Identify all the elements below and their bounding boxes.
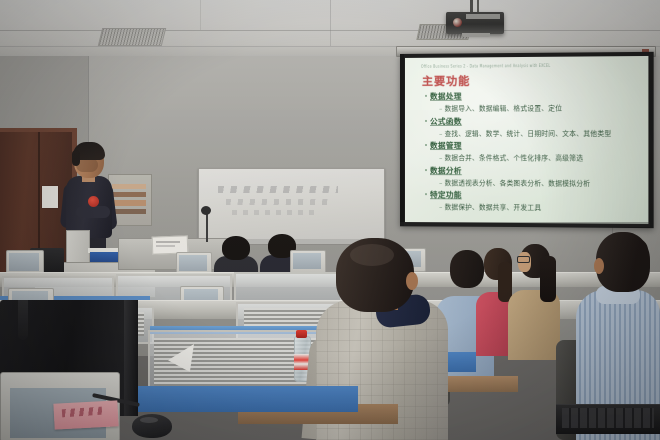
desk-partition — [234, 272, 342, 302]
slide-section-detail: –数据导入、数据编辑、格式设置、定位 — [439, 102, 644, 113]
bottle-cap — [296, 330, 307, 338]
printed-sheet-line — [156, 241, 180, 243]
slide-section-title: 特定功能 — [430, 189, 462, 200]
slide-section-detail-text: 数据导入、数据编辑、格式设置、定位 — [445, 104, 563, 112]
bullet-icon — [425, 193, 427, 195]
attendee-hair — [540, 256, 556, 302]
attendee-head — [222, 236, 250, 260]
whiteboard-writing — [226, 199, 330, 205]
screen-border — [400, 54, 404, 226]
attendee-ear — [594, 258, 604, 274]
lab-monitor-screen — [179, 255, 207, 271]
bullet-icon — [425, 95, 427, 97]
wall-art-stripe — [112, 209, 146, 214]
projector-base — [462, 33, 490, 37]
slide-section: 数据处理 –数据导入、数据编辑、格式设置、定位 — [425, 90, 644, 113]
presenter-folded-arms — [76, 206, 110, 218]
bullet-icon — [425, 119, 427, 121]
slide-section: 数据分析 –数据透视表分析、各类图表分析、数据模拟分析 — [425, 165, 644, 188]
slide-section-detail: –查找、逻辑、数学、统计、日期时间、文本、其他类型 — [439, 127, 644, 137]
slide-section-detail-text: 数据保护、数据共享、开发工具 — [445, 203, 542, 212]
presenter-hair — [72, 150, 80, 166]
attendee-ear — [406, 272, 418, 290]
bullet-icon — [425, 144, 427, 146]
slide-section-detail-text: 数据透视表分析、各类图表分析、数据模拟分析 — [445, 179, 591, 188]
lab-monitor-screen — [293, 253, 321, 269]
wall-art-stripe — [112, 192, 146, 197]
slide-section-detail: –数据合并、条件格式、个性化排序、高级筛选 — [439, 152, 644, 162]
mouse-highlight — [140, 417, 158, 423]
slide-section-title: 数据管理 — [430, 140, 462, 151]
whiteboard — [198, 168, 385, 242]
wall-art-stripe — [112, 200, 146, 206]
door-notice-paper — [42, 186, 58, 208]
desk-front-panel — [118, 386, 358, 412]
monitor-cable — [18, 300, 28, 340]
slide-section-detail-text: 查找、逻辑、数学、统计、日期时间、文本、其他类型 — [445, 129, 612, 137]
slide-section-title: 数据分析 — [430, 165, 462, 176]
slide-section-title: 公式函数 — [430, 115, 462, 126]
slide-section-detail: –数据保护、数据共享、开发工具 — [439, 201, 644, 212]
wall-art-stripe — [112, 184, 146, 189]
slide-section-title: 数据处理 — [430, 91, 462, 102]
presenter-shirt-logo — [88, 196, 99, 207]
ceiling-seam — [200, 0, 201, 30]
attendee-head — [450, 250, 484, 288]
slide-body: 数据处理 –数据导入、数据编辑、格式设置、定位 公式函数 –查找、逻辑、数学、统… — [425, 90, 644, 215]
keyboard-keys — [562, 408, 654, 428]
attendee-head — [596, 232, 650, 292]
microphone-icon — [201, 206, 211, 215]
classroom-photo: Office Business Series 2 - Data Manageme… — [0, 0, 660, 440]
attendee-hair-highlight — [350, 244, 394, 266]
whiteboard-writing — [218, 186, 338, 193]
slide-section-detail-text: 数据合并、条件格式、个性化排序、高级筛选 — [445, 154, 584, 162]
ceiling-vent-icon — [98, 28, 166, 46]
ceiling-seam — [330, 0, 331, 46]
printed-sheet-line — [156, 245, 175, 247]
lab-monitor-screen — [9, 253, 39, 271]
eyeglasses-icon — [517, 256, 530, 263]
slide-title: 主要功能 — [422, 73, 470, 89]
screen-bottom-shadow — [400, 222, 650, 227]
projector-highlight — [466, 14, 500, 19]
slide-section-detail: –数据透视表分析、各类图表分析、数据模拟分析 — [439, 177, 644, 188]
projection-screen: Office Business Series 2 - Data Manageme… — [400, 52, 654, 228]
presentation-slide: Office Business Series 2 - Data Manageme… — [405, 56, 648, 224]
projector-lens-icon — [453, 18, 462, 27]
whiteboard-writing — [232, 210, 316, 215]
slide-section: 公式函数 –查找、逻辑、数学、统计、日期时间、文本、其他类型 — [425, 115, 644, 138]
foreground-monitor-edge — [124, 300, 138, 416]
slide-section: 特定功能 –数据保护、数据共享、开发工具 — [425, 189, 644, 213]
slide-section: 数据管理 –数据合并、条件格式、个性化排序、高级筛选 — [425, 140, 644, 163]
bullet-icon — [425, 169, 427, 171]
microphone-stand — [206, 212, 208, 242]
